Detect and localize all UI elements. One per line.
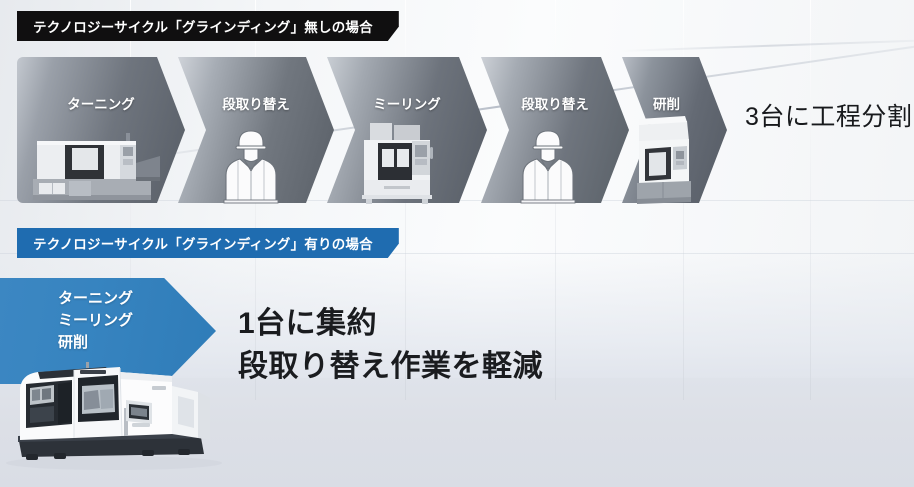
capability-label-grinding: 研削 — [58, 332, 208, 354]
blue-capability-labels: ターニング ミーリング 研削 — [58, 288, 208, 355]
callout-line-2: 段取り替え作業を軽減 — [238, 346, 543, 389]
slide-canvas: テクノロジーサイクル「グラインディング」無しの場合 ターニング — [0, 0, 914, 487]
capability-label-turning: ターニング — [58, 288, 208, 310]
callout-line-1: 1台に集約 — [238, 303, 543, 346]
multitasking-machine-icon — [2, 358, 234, 470]
banner-with-grinding: テクノロジーサイクル「グラインディング」有りの場合 — [17, 228, 399, 258]
worker-icon — [515, 127, 581, 205]
grinding-machine-icon — [625, 109, 703, 205]
process-step-label: ターニング — [17, 93, 185, 113]
callout-three-machines: 3台に工程分割 — [745, 97, 912, 133]
callout-consolidation: 1台に集約 段取り替え作業を軽減 — [238, 303, 543, 388]
cnc-lathe-icon — [19, 123, 165, 205]
process-flow-without-grinding: ターニング 段取り替え — [0, 57, 760, 203]
banner-without-grinding: テクノロジーサイクル「グラインディング」無しの場合 — [17, 11, 399, 41]
process-step-label: 段取り替え — [481, 93, 629, 113]
process-step-label: ミーリング — [327, 93, 487, 113]
capability-label-milling: ミーリング — [58, 310, 208, 332]
process-step-label: 段取り替え — [178, 93, 334, 113]
machining-center-icon — [352, 113, 448, 205]
worker-icon — [218, 127, 284, 205]
